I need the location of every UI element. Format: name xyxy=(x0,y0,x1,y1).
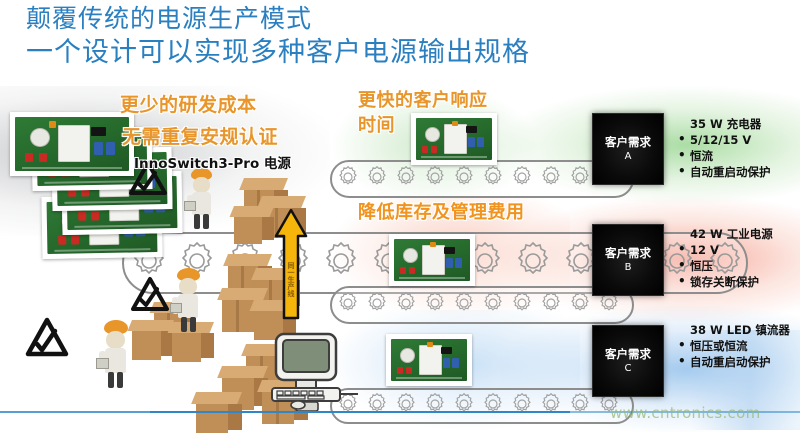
box-top-face xyxy=(128,320,174,331)
box-side-face xyxy=(262,217,274,240)
filter-icon xyxy=(468,137,475,147)
resistor-icon xyxy=(397,367,403,375)
ic-icon xyxy=(91,127,106,136)
resistor-icon xyxy=(406,367,412,375)
customer-card-a[interactable]: 客户需求 A xyxy=(592,113,664,185)
box-front-face xyxy=(234,217,262,244)
resistor-icon xyxy=(91,212,99,220)
worker-leg xyxy=(194,214,200,229)
pcb-substrate xyxy=(394,239,470,281)
diode-icon xyxy=(427,342,432,347)
customer-card-c-letter: C xyxy=(625,362,632,375)
resistor-icon xyxy=(25,153,33,162)
pcb-silk-strip xyxy=(74,224,171,228)
slide-title: 颠覆传统的电源生产模式 一个设计可以实现多种客户电源输出规格 xyxy=(26,4,766,69)
customer-spec-c-bullet-1: 恒压或恒流 xyxy=(676,338,800,354)
resistor-icon xyxy=(431,146,437,154)
box-front-face xyxy=(172,333,201,362)
site-watermark: www.cntronics.com xyxy=(610,404,761,422)
customer-spec-b-list: 12 V 恒压 锁存关断保护 xyxy=(676,242,800,290)
box-top-face xyxy=(217,288,268,300)
resistor-icon xyxy=(409,267,415,275)
worker-head xyxy=(179,278,197,295)
customer-card-b-letter: B xyxy=(625,261,632,274)
capacitor-icon xyxy=(403,248,418,263)
same-production-line-arrow: 同一生产线 xyxy=(274,208,308,320)
pcb-silk-strip xyxy=(399,277,466,279)
box-front-face xyxy=(132,331,161,360)
customer-spec-a-bullet-3: 自动重启动保护 xyxy=(676,164,800,180)
rcm-compliance-triangle-icon xyxy=(24,316,70,358)
title-line-2: 一个设计可以实现多种客户电源输出规格 xyxy=(26,36,766,69)
filter-icon xyxy=(446,258,453,268)
title-line-1: 颠覆传统的电源生产模式 xyxy=(26,4,766,34)
transformer-icon xyxy=(419,345,442,375)
worker-leg xyxy=(181,317,187,332)
transformer-icon xyxy=(58,125,90,163)
worker-leg xyxy=(203,214,209,229)
ic-icon xyxy=(444,247,455,255)
customer-spec-a-list: 5/12/15 V 恒流 自动重启动保护 xyxy=(676,132,800,180)
customer-spec-b-bullet-3: 锁存关断保护 xyxy=(676,274,800,290)
box-top-face xyxy=(217,366,268,378)
footer-rule-left xyxy=(0,411,150,413)
customer-spec-c-head: 38 W LED 镇流器 xyxy=(690,322,800,338)
box-top-face xyxy=(223,254,272,266)
resistor-icon xyxy=(422,146,428,154)
worker-leg xyxy=(190,317,196,332)
filter-icon xyxy=(94,142,103,155)
customer-spec-b: 42 W 工业电源 12 V 恒压 锁存关断保护 xyxy=(676,226,800,290)
diode-icon xyxy=(49,121,56,127)
diode-icon xyxy=(430,242,435,247)
resistor-icon xyxy=(58,236,66,244)
callout-inventory-cost: 降低库存及管理费用 xyxy=(358,198,525,224)
pcb-silk-strip xyxy=(44,180,141,184)
callout-response-line-1: 更快的客户响应 xyxy=(358,88,488,113)
pcb-substrate xyxy=(15,117,129,171)
resistor-icon xyxy=(400,267,406,275)
filter-icon xyxy=(106,142,115,155)
pcb-output-board-b xyxy=(389,234,475,286)
worker-leg xyxy=(108,372,114,388)
callout-certification: 无需重复安规认证 xyxy=(122,122,278,149)
callout-rd-cost: 更少的研发成本 xyxy=(120,90,257,117)
conveyor-belt-output-b xyxy=(330,286,634,324)
customer-card-a-letter: A xyxy=(625,150,632,163)
product-name-label: InnoSwitch3-Pro 电源 xyxy=(134,152,291,172)
customer-spec-a: 35 W 充电器 5/12/15 V 恒流 自动重启动保护 xyxy=(676,116,800,180)
box-top-face xyxy=(239,178,288,190)
pcb-silk-strip xyxy=(54,248,151,252)
conveyor-belt-output-a xyxy=(330,160,634,198)
construction-worker-icon xyxy=(96,320,134,388)
customer-card-a-title: 客户需求 xyxy=(605,135,651,150)
capacitor-icon xyxy=(400,348,415,363)
resistor-icon xyxy=(39,153,47,162)
pcb-silk-strip xyxy=(396,377,463,379)
ic-icon xyxy=(441,347,452,355)
box-top-face xyxy=(191,392,242,404)
resistor-icon xyxy=(71,236,79,244)
customer-spec-c-bullet-2: 自动重启动保护 xyxy=(676,354,800,370)
filter-icon xyxy=(443,358,450,368)
transformer-icon xyxy=(422,245,445,275)
box-side-face xyxy=(201,333,214,358)
customer-spec-c: 38 W LED 镇流器 恒压或恒流 自动重启动保护 xyxy=(676,322,800,370)
customer-spec-a-bullet-1: 5/12/15 V xyxy=(676,132,800,148)
worker-head xyxy=(193,177,210,193)
pcb-stack-board-1 xyxy=(10,112,134,176)
conveyor-belt-output-c xyxy=(330,388,634,424)
customer-card-c-title: 客户需求 xyxy=(605,347,651,362)
worker-leg xyxy=(117,372,123,388)
slide-canvas: 颠覆传统的电源生产模式 一个设计可以实现多种客户电源输出规格 xyxy=(0,0,800,433)
pcb-output-board-c xyxy=(386,334,472,386)
box-top-face xyxy=(230,206,274,217)
box-tape xyxy=(236,300,239,332)
cardboard-box-icon xyxy=(234,206,274,244)
crt-computer-icon xyxy=(262,332,370,416)
filter-icon xyxy=(477,137,484,147)
customer-card-b[interactable]: 客户需求 B xyxy=(592,224,664,296)
pcb-silk-strip xyxy=(64,200,161,204)
worker-clipboard xyxy=(170,303,182,313)
resistor-icon xyxy=(78,212,86,220)
customer-spec-b-bullet-2: 恒压 xyxy=(676,258,800,274)
box-front-face xyxy=(196,404,228,433)
customer-spec-b-head: 42 W 工业电源 xyxy=(690,226,800,242)
callout-response-line-2: 时间 xyxy=(358,113,488,138)
customer-card-b-title: 客户需求 xyxy=(605,246,651,261)
cardboard-box-icon xyxy=(132,320,174,360)
construction-worker-icon xyxy=(184,168,218,230)
callout-response-time: 更快的客户响应 时间 xyxy=(358,88,488,138)
customer-spec-c-list: 恒压或恒流 自动重启动保护 xyxy=(676,338,800,370)
box-side-face xyxy=(228,404,242,430)
footer-rule xyxy=(150,411,570,413)
filter-icon xyxy=(455,258,462,268)
arrow-label: 同一生产线 xyxy=(274,242,308,316)
rcm-compliance-triangle-icon xyxy=(130,276,170,312)
pcb-substrate xyxy=(391,339,467,381)
capacitor-icon xyxy=(30,128,50,147)
worker-clipboard xyxy=(96,358,109,369)
worker-head xyxy=(106,331,125,349)
customer-spec-a-head: 35 W 充电器 xyxy=(690,116,800,132)
customer-card-c[interactable]: 客户需求 C xyxy=(592,325,664,397)
pcb-silk-strip xyxy=(22,167,122,169)
filter-icon xyxy=(452,358,459,368)
worker-clipboard xyxy=(184,201,196,211)
construction-worker-icon xyxy=(170,268,206,332)
pcb-silk-strip xyxy=(421,156,488,158)
customer-spec-b-bullet-1: 12 V xyxy=(676,242,800,258)
customer-spec-a-bullet-2: 恒流 xyxy=(676,148,800,164)
